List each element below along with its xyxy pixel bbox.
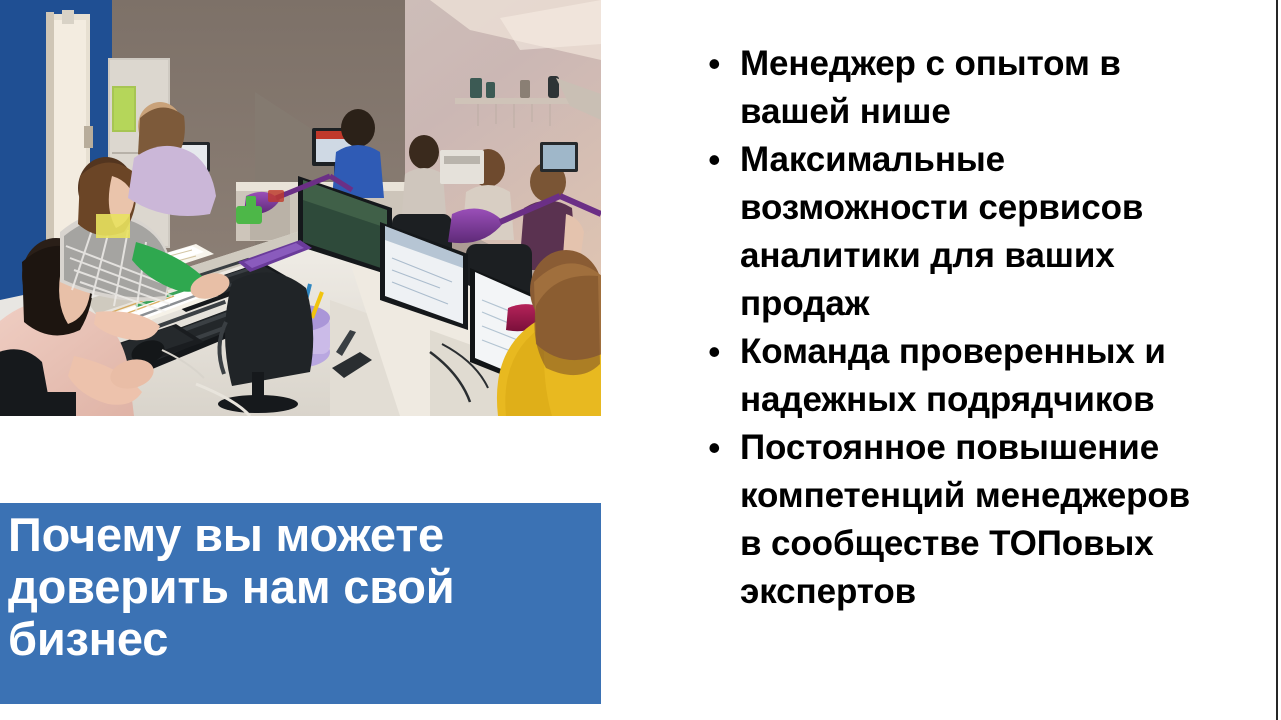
list-item: • Максимальные возможности сервисов анал… [700,136,1220,328]
list-item: • Менеджер с опытом в вашей нише [700,40,1220,136]
bullet-dot-icon: • [700,40,740,88]
slide-title-block: Почему вы можете доверить нам свой бизне… [0,503,601,704]
list-item-label: Менеджер с опытом в вашей нише [740,40,1220,136]
list-item-label: Максимальные возможности сервисов аналит… [740,136,1220,328]
slide-right-border [1276,0,1278,720]
bullet-dot-icon: • [700,328,740,376]
bullet-dot-icon: • [700,136,740,184]
bullet-dot-icon: • [700,424,740,472]
page-title: Почему вы можете доверить нам свой бизне… [8,509,591,665]
office-photo [0,0,601,416]
presentation-slide: Почему вы можете доверить нам свой бизне… [0,0,1281,720]
list-item-label: Команда проверенных и надежных подрядчик… [740,328,1220,424]
list-item-label: Постоянное повышение компетенций менедже… [740,424,1220,616]
list-item: • Постоянное повышение компетенций менед… [700,424,1220,616]
benefits-list: • Менеджер с опытом в вашей нише • Макси… [700,40,1220,616]
list-item: • Команда проверенных и надежных подрядч… [700,328,1220,424]
